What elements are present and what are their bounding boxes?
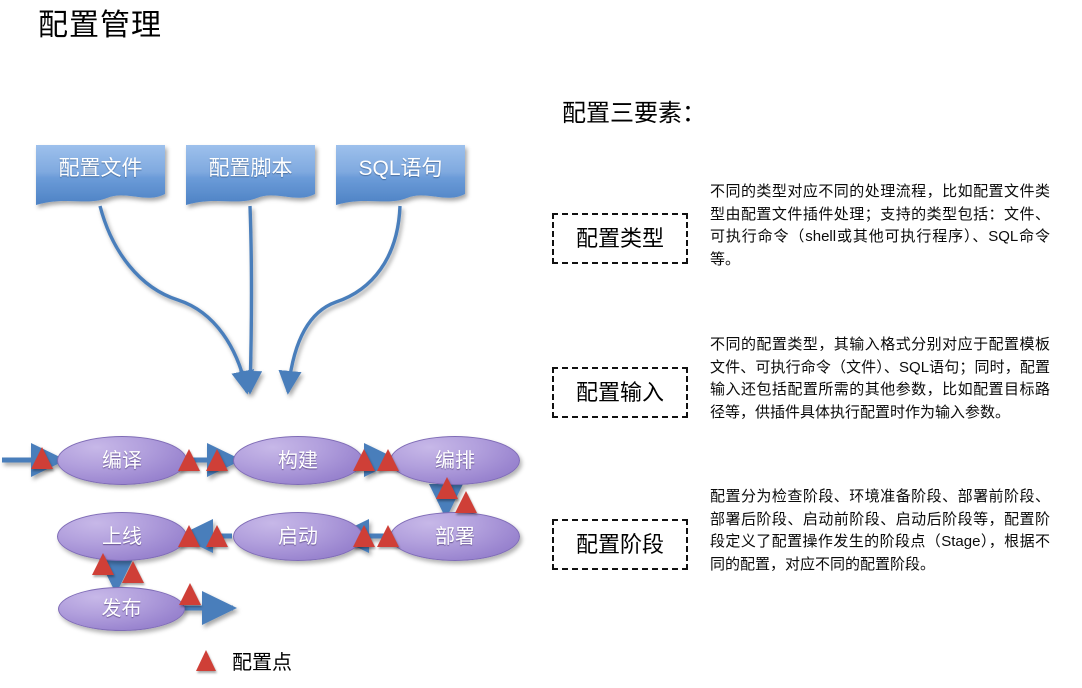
config-point-marker-icon xyxy=(353,449,375,471)
config-point-marker-icon xyxy=(455,491,477,513)
source-to-pipeline-connectors xyxy=(100,206,400,392)
source-banner-sql-statement[interactable]: SQL语句 xyxy=(336,145,465,205)
config-point-marker-icon xyxy=(206,449,228,471)
pipeline-node-online[interactable]: 上线 xyxy=(57,512,187,561)
element-tag-config-input[interactable]: 配置输入 xyxy=(552,367,688,418)
config-point-marker-icon xyxy=(206,525,228,547)
element-description-config-stage: 配置分为检查阶段、环境准备阶段、部署前阶段、部署后阶段、启动前阶段、启动后阶段等… xyxy=(710,486,1050,576)
source-banner-config-script[interactable]: 配置脚本 xyxy=(186,145,315,205)
config-point-marker-icon xyxy=(92,553,114,575)
pipeline-node-release[interactable]: 发布 xyxy=(58,587,185,631)
pipeline-node-label: 发布 xyxy=(102,597,142,621)
source-banner-label: 配置文件 xyxy=(36,156,165,182)
element-tag-config-stage[interactable]: 配置阶段 xyxy=(552,519,688,570)
page-title: 配置管理 xyxy=(38,6,162,46)
element-tag-label: 配置类型 xyxy=(576,226,664,252)
element-description-config-input: 不同的配置类型，其输入格式分别对应于配置模板文件、可执行命令（文件）、SQL语句… xyxy=(710,334,1050,424)
pipeline-node-label: 部署 xyxy=(435,525,475,549)
legend-label: 配置点 xyxy=(232,651,292,675)
pipeline-node-deploy[interactable]: 部署 xyxy=(390,512,520,561)
config-point-marker-icon xyxy=(178,449,200,471)
config-point-marker-icon xyxy=(377,449,399,471)
pipeline-node-label: 编译 xyxy=(102,449,142,473)
legend-marker-icon xyxy=(196,650,216,671)
pipeline-node-label: 编排 xyxy=(435,449,475,473)
source-banner-label: SQL语句 xyxy=(336,156,465,182)
pipeline-node-label: 上线 xyxy=(102,525,142,549)
config-point-marker-icon xyxy=(353,525,375,547)
pipeline-node-label: 启动 xyxy=(278,525,318,549)
config-point-marker-icon xyxy=(179,583,201,605)
slide-canvas: 配置管理 配置三要素： xyxy=(0,0,1082,688)
element-tag-label: 配置输入 xyxy=(576,380,664,406)
source-banner-label: 配置脚本 xyxy=(186,156,315,182)
pipeline-node-build[interactable]: 构建 xyxy=(233,436,363,485)
pipeline-node-compile[interactable]: 编译 xyxy=(57,436,187,485)
element-tag-label: 配置阶段 xyxy=(576,532,664,558)
section-heading: 配置三要素： xyxy=(562,98,706,130)
element-description-config-type: 不同的类型对应不同的处理流程，比如配置文件类型由配置文件插件处理；支持的类型包括… xyxy=(710,181,1050,271)
config-point-marker-icon xyxy=(122,561,144,583)
element-tag-config-type[interactable]: 配置类型 xyxy=(552,213,688,264)
config-point-marker-icon xyxy=(178,525,200,547)
pipeline-node-label: 构建 xyxy=(278,449,318,473)
pipeline-node-start[interactable]: 启动 xyxy=(233,512,363,561)
config-point-marker-icon xyxy=(377,525,399,547)
config-point-marker-icon xyxy=(31,447,53,469)
source-banner-config-file[interactable]: 配置文件 xyxy=(36,145,165,205)
